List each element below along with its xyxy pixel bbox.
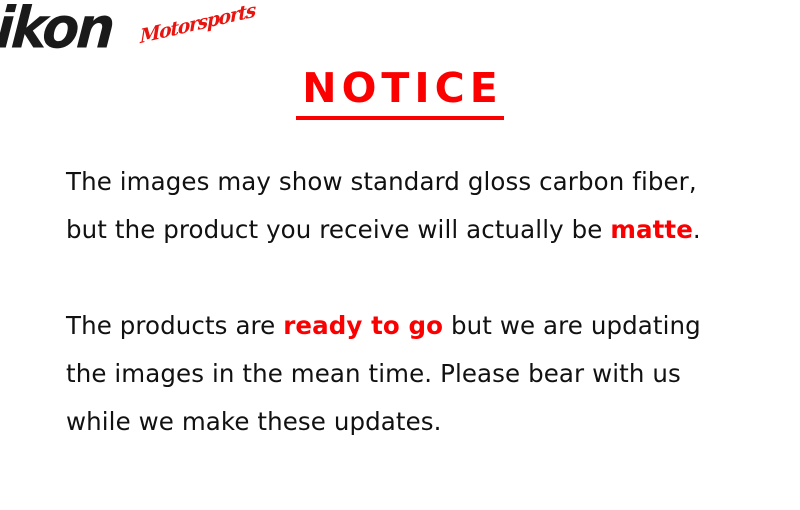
paragraph-2-line-1-prefix: The products are bbox=[66, 311, 283, 340]
paragraph-2-line-2: the images in the mean time. Please bear… bbox=[66, 350, 766, 398]
page-title: NOTICE bbox=[250, 66, 550, 110]
paragraph-2: The products are ready to go but we are … bbox=[66, 302, 766, 446]
notice-banner: ikon Motorsports NOTICE The images may s… bbox=[0, 0, 800, 510]
notice-body: The images may show standard gloss carbo… bbox=[66, 158, 766, 446]
highlight-ready-to-go: ready to go bbox=[283, 311, 443, 340]
paragraph-2-line-1-suffix: but we are updating bbox=[443, 311, 701, 340]
paragraph-2-line-1: The products are ready to go but we are … bbox=[66, 302, 766, 350]
ikon-motorsports-logo: ikon Motorsports bbox=[0, 2, 250, 74]
paragraph-2-line-3: while we make these updates. bbox=[66, 398, 766, 446]
logo-wordmark-text: ikon bbox=[0, 0, 114, 57]
notice-heading-block: NOTICE bbox=[250, 66, 550, 120]
paragraph-1-line-2: but the product you receive will actuall… bbox=[66, 206, 766, 254]
highlight-matte: matte bbox=[610, 215, 693, 244]
paragraph-1-line-1: The images may show standard gloss carbo… bbox=[66, 158, 766, 206]
paragraph-1-line-2-suffix: . bbox=[693, 215, 701, 244]
title-underline-rule bbox=[296, 116, 504, 120]
paragraph-1: The images may show standard gloss carbo… bbox=[66, 158, 766, 254]
paragraph-1-line-2-prefix: but the product you receive will actuall… bbox=[66, 215, 610, 244]
logo-script-text: Motorsports bbox=[140, 1, 255, 47]
